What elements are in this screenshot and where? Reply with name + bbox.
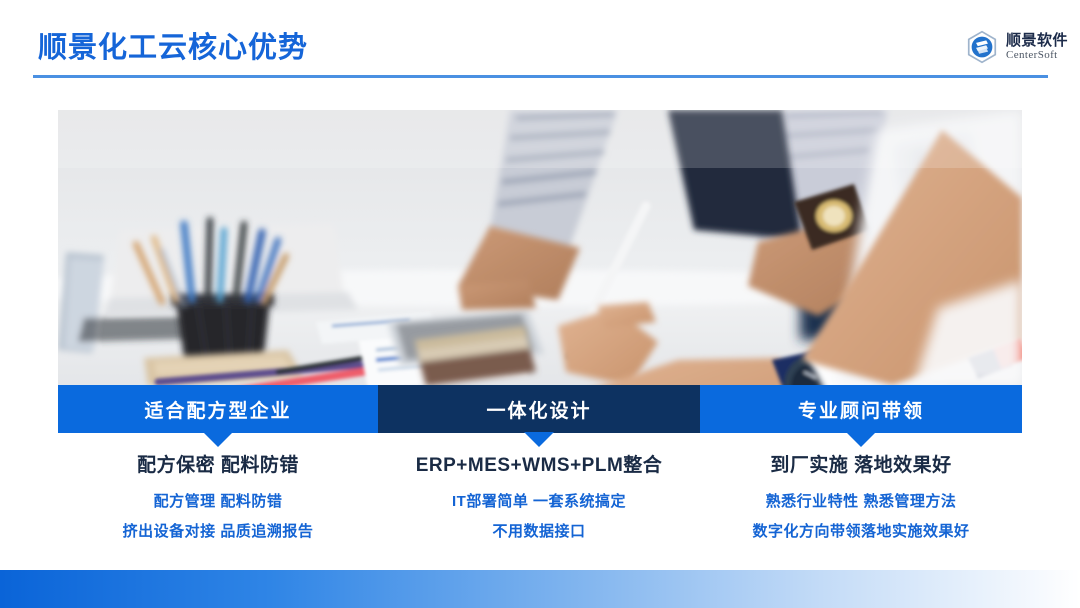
banner-label: 一体化设计 <box>486 396 591 423</box>
banner-integrated-design[interactable]: 一体化设计 <box>378 385 700 433</box>
feature-heading: ERP+MES+WMS+PLM整合 <box>378 450 700 477</box>
feature-detail-line: 数字化方向带领落地实施效果好 <box>700 520 1022 541</box>
feature-column-2: ERP+MES+WMS+PLM整合 IT部署简单 一套系统搞定 不用数据接口 <box>378 450 700 550</box>
slide-canvas: 顺景化工云核心优势 顺景软件 CenterSoft <box>0 0 1080 608</box>
logo-name-cn: 顺景软件 <box>1006 33 1068 48</box>
banner-suitable-for-formula-enterprises[interactable]: 适合配方型企业 <box>58 385 378 433</box>
banner-pointer-icon <box>524 432 554 447</box>
logo-name-en: CenterSoft <box>1006 50 1068 61</box>
feature-heading: 配方保密 配料防错 <box>58 450 378 477</box>
hero-photo <box>58 110 1022 385</box>
feature-column-1: 配方保密 配料防错 配方管理 配料防错 挤出设备对接 品质追溯报告 <box>58 450 378 550</box>
feature-detail-line: 配方管理 配料防错 <box>58 490 378 511</box>
feature-column-3: 到厂实施 落地效果好 熟悉行业特性 熟悉管理方法 数字化方向带领落地实施效果好 <box>700 450 1022 550</box>
hexagon-s-logo-icon <box>965 30 999 64</box>
page-title: 顺景化工云核心优势 <box>38 24 308 66</box>
title-divider <box>33 75 1048 78</box>
feature-heading: 到厂实施 落地效果好 <box>700 450 1022 477</box>
feature-detail-line: 熟悉行业特性 熟悉管理方法 <box>700 490 1022 511</box>
footer-gradient-bar <box>0 570 1080 608</box>
feature-detail-line: IT部署简单 一套系统搞定 <box>378 490 700 511</box>
feature-banner-strip: 适合配方型企业 一体化设计 专业顾问带领 <box>58 385 1022 433</box>
brand-logo: 顺景软件 CenterSoft <box>965 30 1068 64</box>
hero-photo-illustration <box>58 110 1022 385</box>
banner-pointer-icon <box>846 432 876 447</box>
logo-wordmark: 顺景软件 CenterSoft <box>1006 33 1068 61</box>
banner-pointer-icon <box>203 432 233 447</box>
banner-label: 适合配方型企业 <box>144 396 291 423</box>
banner-professional-consultant[interactable]: 专业顾问带领 <box>700 385 1022 433</box>
feature-detail-line: 挤出设备对接 品质追溯报告 <box>58 520 378 541</box>
feature-detail-line: 不用数据接口 <box>378 520 700 541</box>
banner-label: 专业顾问带领 <box>798 396 924 423</box>
feature-columns: 配方保密 配料防错 配方管理 配料防错 挤出设备对接 品质追溯报告 ERP+ME… <box>58 450 1022 550</box>
